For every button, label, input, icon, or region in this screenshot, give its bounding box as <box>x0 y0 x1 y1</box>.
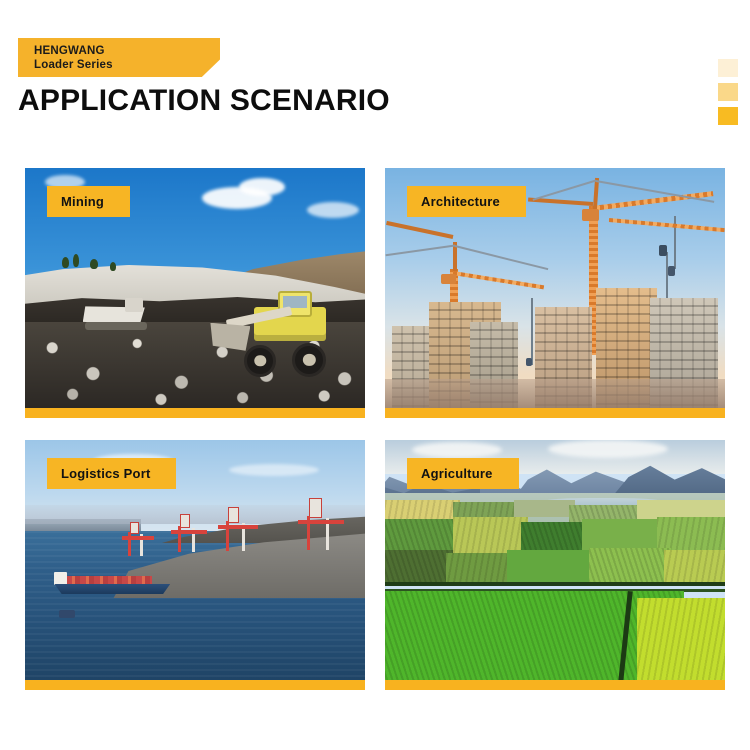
scenario-card-mining[interactable]: Mining <box>25 168 365 418</box>
foreground-crop-field <box>637 598 725 680</box>
cloud-shape <box>548 440 668 458</box>
gantry-top-box <box>309 498 322 518</box>
decorative-square-dark <box>718 107 738 125</box>
gantry-crane <box>168 514 212 552</box>
crane-hook-block <box>659 245 667 256</box>
cloud-shape <box>239 178 285 196</box>
truck-cab <box>125 298 143 312</box>
gantry-boom <box>298 520 344 524</box>
farm-field <box>453 517 528 553</box>
cloud-shape <box>307 202 359 218</box>
truck-shadow <box>85 322 147 330</box>
farm-field <box>589 548 671 584</box>
brand-series: Loader Series <box>34 58 220 72</box>
farm-field <box>446 553 514 584</box>
ship-containers <box>66 576 152 585</box>
mining-haul-truck <box>83 302 157 330</box>
cloud-shape <box>229 464 319 476</box>
page-header: HENGWANG Loader Series APPLICATION SCENA… <box>0 0 750 150</box>
scenario-card-architecture[interactable]: Architecture <box>385 168 725 418</box>
farm-field <box>664 550 725 584</box>
brand-name: HENGWANG <box>34 44 220 58</box>
ship-superstructure <box>54 572 67 585</box>
farm-field <box>385 550 453 584</box>
gantry-crane <box>215 507 263 551</box>
hedgerow <box>385 582 725 587</box>
farm-field <box>514 500 575 517</box>
gantry-top-box <box>130 522 139 534</box>
loader-wheel <box>244 345 276 377</box>
gantry-crane <box>120 522 160 556</box>
page-title: APPLICATION SCENARIO <box>18 84 390 118</box>
gantry-boom <box>171 530 207 534</box>
card-accent-bar <box>25 408 365 418</box>
decorative-square-stack <box>718 59 738 131</box>
tree-shape <box>73 254 79 267</box>
gantry-boom <box>218 525 258 529</box>
decorative-square-light <box>718 59 738 77</box>
scenario-card-agriculture[interactable]: Agriculture <box>385 440 725 690</box>
decorative-square-medium <box>718 83 738 101</box>
card-label-architecture: Architecture <box>407 186 526 217</box>
gantry-top-box <box>180 514 190 528</box>
gantry-top-box <box>228 507 239 523</box>
tug-boat <box>59 610 75 618</box>
container-ship <box>52 572 170 594</box>
gantry-crane <box>294 498 350 550</box>
distant-skyline-haze <box>385 379 725 408</box>
mining-wheel-loader <box>206 293 334 379</box>
scenario-card-grid: Mining <box>25 168 725 690</box>
brand-banner: HENGWANG Loader Series <box>18 38 220 77</box>
tree-shape <box>90 259 98 269</box>
card-accent-bar <box>25 680 365 690</box>
card-label-mining: Mining <box>47 186 130 217</box>
tree-shape <box>110 262 116 271</box>
gantry-boom <box>122 536 154 540</box>
crane-jib <box>609 218 725 232</box>
card-accent-bar <box>385 680 725 690</box>
card-accent-bar <box>385 408 725 418</box>
scenario-card-logistics-port[interactable]: Logistics Port <box>25 440 365 690</box>
application-scenario-page: HENGWANG Loader Series APPLICATION SCENA… <box>0 0 750 750</box>
loader-wheel <box>292 343 326 377</box>
card-label-agriculture: Agriculture <box>407 458 519 489</box>
ship-hull <box>52 584 170 594</box>
loader-bucket <box>210 323 250 351</box>
tree-shape <box>62 257 69 268</box>
farm-field <box>507 550 595 584</box>
card-label-logistics-port: Logistics Port <box>47 458 176 489</box>
